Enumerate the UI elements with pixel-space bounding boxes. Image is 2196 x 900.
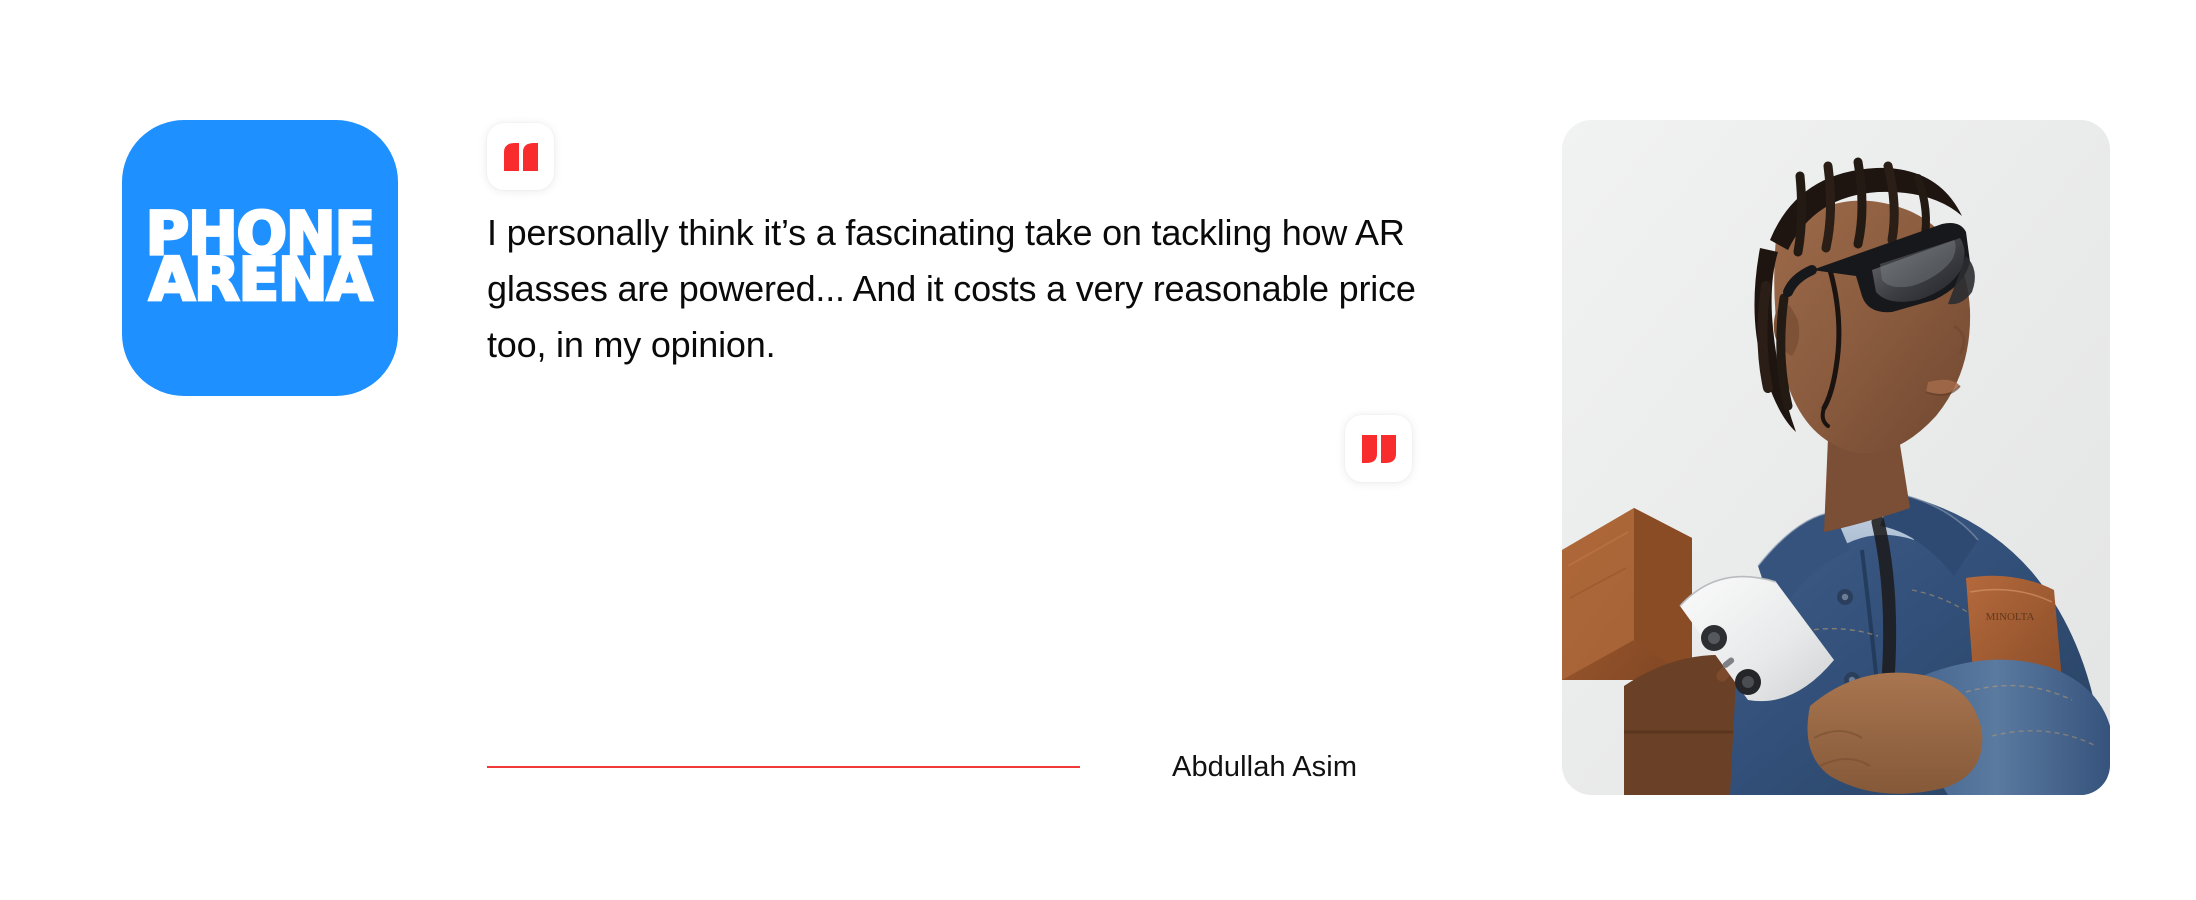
- attribution-rule: [487, 766, 1080, 768]
- attribution: Abdullah Asim: [487, 742, 1417, 792]
- closing-quote-badge: [1345, 415, 1412, 482]
- brand-wordmark: PHONE ARENA: [163, 212, 357, 304]
- hand: [1808, 673, 1983, 794]
- quote-open-icon: [504, 143, 538, 171]
- svg-text:MINOLTA: MINOLTA: [1986, 611, 2035, 623]
- quote-card: PHONE ARENA I personally think it’s a fa…: [0, 0, 2196, 900]
- quote-photo: MINOLTA: [1562, 120, 2110, 795]
- brand-wordmark-line-2: ARENA: [149, 257, 371, 306]
- quote-text: I personally think it’s a fascinating ta…: [487, 205, 1437, 373]
- opening-quote-badge: [487, 123, 554, 190]
- author-name: Abdullah Asim: [1172, 751, 1357, 784]
- quote-close-icon: [1362, 435, 1396, 463]
- phonearena-logo[interactable]: PHONE ARENA: [122, 120, 398, 396]
